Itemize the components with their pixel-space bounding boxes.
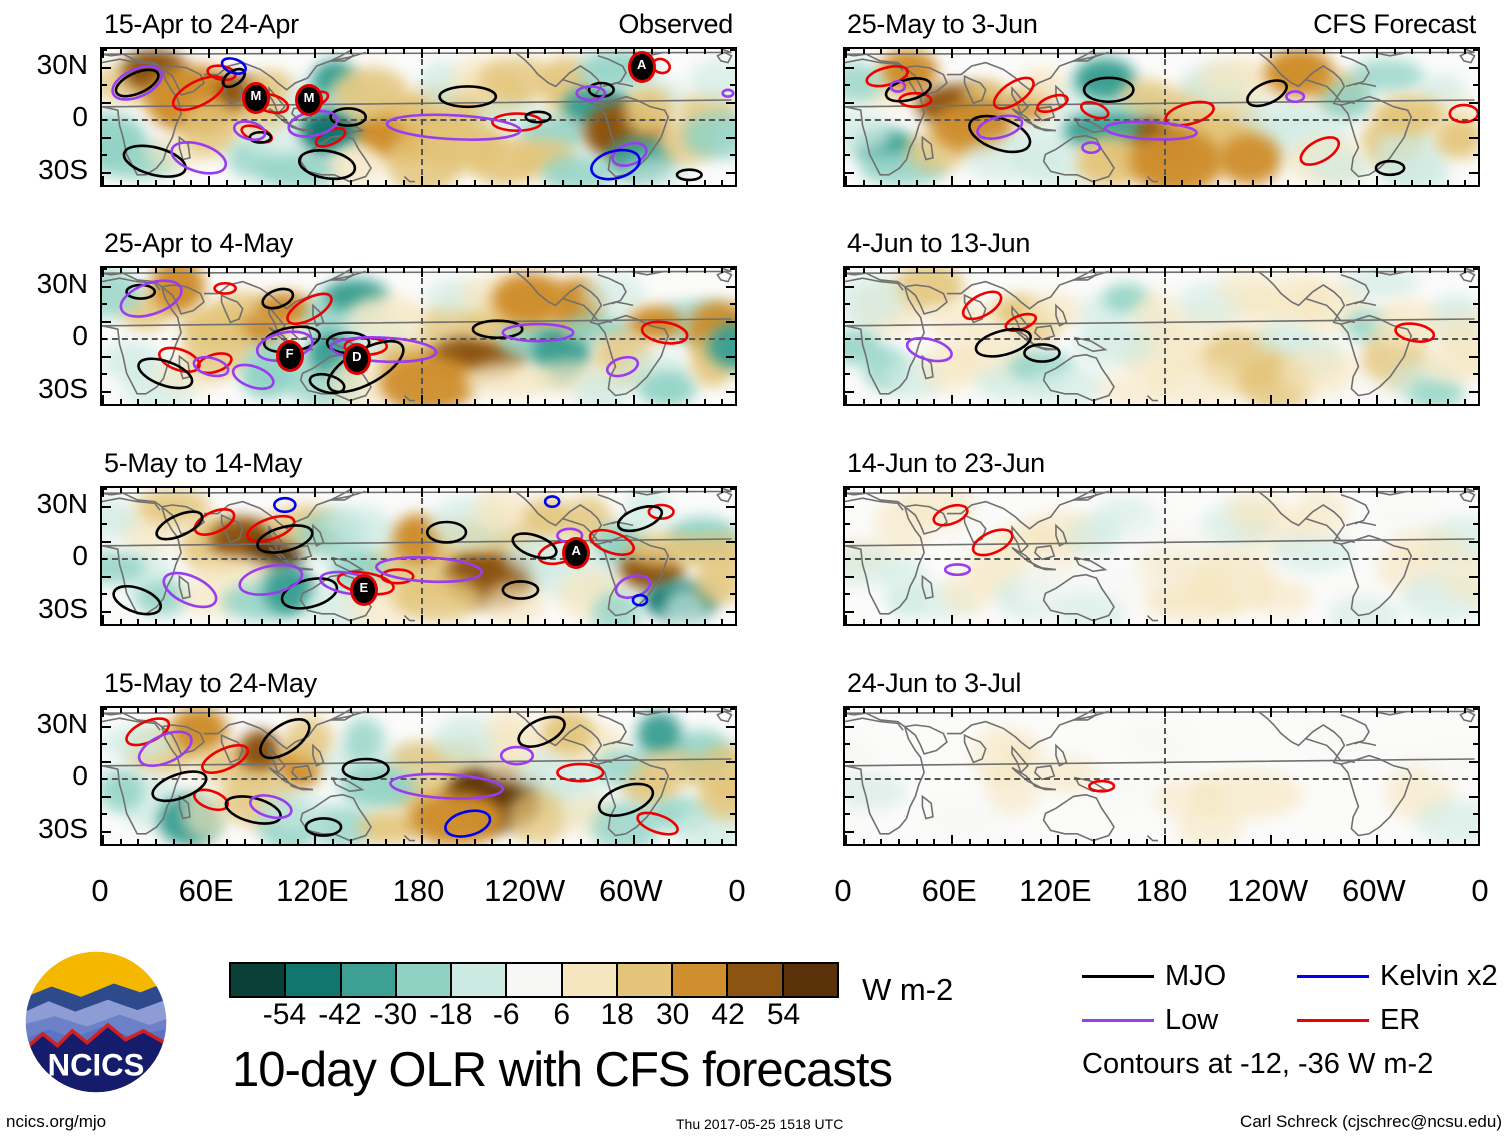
axis-tick [726,172,735,174]
axis-tick [686,619,688,624]
axis-tick [350,619,352,624]
axis-tick [845,395,847,404]
axis-tick [1004,619,1006,624]
axis-tick [102,615,104,624]
axis-tick [730,523,735,525]
axis-tick [456,268,458,273]
axis-tick [969,49,971,54]
colorbar-tick-label: 30 [656,1000,689,1030]
axis-tick [1128,268,1130,273]
axis-tick [421,395,423,404]
axis-tick [686,488,688,493]
axis-tick [730,488,735,490]
map-panel-fcst-4[interactable] [843,706,1480,846]
axis-tick [190,708,192,713]
colorbar-tick-label: 18 [600,1000,633,1030]
axis-tick [173,268,175,273]
axis-tick [969,268,971,273]
axis-tick [1057,488,1059,497]
axis-tick [527,268,529,277]
axis-tick [350,488,352,493]
axis-tick [597,399,599,404]
axis-tick [1394,399,1396,404]
axis-tick [1252,708,1254,713]
axis-tick [544,839,546,844]
wave-contour-overlay [845,49,1478,185]
colorbar-tick-label: -18 [429,1000,472,1030]
legend-item-kelvin-x2: Kelvin x2 [1297,962,1498,991]
axis-tick [668,268,670,273]
axis-tick [726,796,735,798]
axis-tick [244,268,246,273]
axis-tick [1287,708,1289,713]
axis-tick [969,399,971,404]
axis-tick [1358,268,1360,273]
legend-label: Kelvin x2 [1380,962,1498,991]
axis-tick [1323,399,1325,404]
axis-tick [350,399,352,404]
axis-tick [580,49,582,54]
axis-tick [1075,619,1077,624]
axis-tick [385,708,387,713]
axis-tick [261,268,263,273]
axis-tick [297,180,299,185]
axis-tick [987,708,989,713]
axis-tick [367,708,369,713]
legend-item-er: ER [1297,1006,1420,1035]
axis-tick [1376,268,1378,277]
axis-tick [1093,268,1095,273]
colorbar-tick-label: 42 [711,1000,744,1030]
axis-tick [403,49,405,54]
axis-tick [367,839,369,844]
contour-low [390,771,504,801]
axis-tick [730,708,735,710]
axis-tick [456,399,458,404]
axis-tick [1473,708,1478,710]
axis-tick [279,268,281,273]
ncics-logo[interactable]: NCICS [22,948,170,1096]
axis-tick [1473,154,1478,156]
axis-tick [1146,268,1148,273]
contour-er [244,511,297,547]
axis-tick [208,708,210,717]
colorbar-tick-labels: -54-42-30-18-6618304254 [229,1000,839,1034]
axis-tick [1429,399,1431,404]
axis-tick [845,119,850,121]
map-panel-obs-4[interactable] [100,706,737,846]
axis-tick [1234,268,1236,273]
wave-marker: M [242,82,270,114]
colorbar-tick-label: -42 [318,1000,361,1030]
axis-tick [1376,835,1378,844]
axis-tick [721,839,723,844]
contour-mjo [1244,75,1291,111]
axis-tick [1057,395,1059,404]
axis-tick [155,619,157,624]
axis-tick [509,399,511,404]
contour-mjo [1084,78,1133,102]
contour-low [168,136,230,179]
axis-tick [1473,268,1478,270]
axis-tick [1340,488,1342,493]
axis-tick [668,708,670,713]
axis-tick [102,373,107,375]
axis-tick [403,488,405,493]
axis-tick [580,268,582,273]
axis-tick [332,488,334,493]
axis-tick [1004,488,1006,493]
footer-link[interactable]: ncics.org/mjo [6,1113,106,1130]
axis-tick [845,488,850,490]
axis-tick [102,593,107,595]
axis-tick [491,268,493,273]
map-panel-obs-2[interactable]: FD [100,266,737,406]
axis-tick [668,488,670,493]
axis-tick [863,619,865,624]
axis-tick [279,399,281,404]
axis-tick [880,839,882,844]
axis-tick [615,488,617,493]
axis-tick [332,180,334,185]
axis-tick [651,619,653,624]
wave-contour-overlay [845,268,1478,404]
axis-tick [1376,708,1378,717]
contour-mjo [135,353,196,394]
axis-tick [1270,395,1272,404]
axis-tick [367,49,369,54]
axis-tick [1199,839,1201,844]
axis-tick [863,839,865,844]
axis-tick [1340,399,1342,404]
axis-tick [261,180,263,185]
axis-tick [863,268,865,273]
axis-tick [332,619,334,624]
axis-tick [597,180,599,185]
axis-tick [1305,488,1307,493]
axis-tick [1040,49,1042,54]
axis-tick [438,839,440,844]
axis-tick [137,488,139,493]
colorbar-units: W m-2 [862,972,953,1008]
axis-tick [597,839,599,844]
axis-tick [580,619,582,624]
axis-tick [1469,137,1478,139]
axis-tick [1110,399,1112,404]
axis-tick [730,268,735,270]
axis-tick [421,615,423,624]
wave-marker: F [276,340,304,372]
axis-tick [1305,839,1307,844]
axis-tick [1305,180,1307,185]
axis-tick [456,839,458,844]
axis-tick [155,180,157,185]
axis-tick [385,488,387,493]
axis-tick [969,839,971,844]
axis-tick [208,49,210,58]
axis-tick [1181,399,1183,404]
axis-tick [1252,619,1254,624]
axis-tick [1217,49,1219,54]
axis-tick [314,268,316,277]
contour-low [723,90,734,97]
axis-tick [102,611,111,613]
axis-tick [208,835,210,844]
axis-tick [845,615,847,624]
contour-er [1089,781,1114,791]
axis-tick [933,180,935,185]
axis-tick [1004,49,1006,54]
axis-tick [730,778,735,780]
axis-tick [880,708,882,713]
axis-tick [297,399,299,404]
axis-tick [651,488,653,493]
axis-tick [1411,49,1413,54]
axis-tick [509,708,511,713]
axis-tick [1022,708,1024,713]
axis-tick [1057,176,1059,185]
axis-tick [102,84,107,86]
axis-tick [1057,835,1059,844]
axis-tick [845,373,850,375]
map-panel-obs-3[interactable]: EA [100,486,737,626]
axis-tick [951,708,953,717]
axis-tick [668,180,670,185]
axis-tick [367,268,369,273]
axis-tick [668,399,670,404]
axis-tick [1394,268,1396,273]
contour-mjo [343,759,389,779]
axis-tick [863,708,865,713]
axis-tick [385,839,387,844]
wave-contour-overlay [845,488,1478,624]
axis-tick [1358,488,1360,493]
axis-tick [845,356,854,358]
axis-tick [1394,180,1396,185]
axis-tick [1287,49,1289,54]
axis-tick [1464,180,1466,185]
axis-tick [1128,839,1130,844]
y-axis-label: 30N [0,270,88,298]
axis-tick [845,523,850,525]
axis-tick [845,268,850,270]
axis-tick [1270,176,1272,185]
axis-tick [933,708,935,713]
colorbar-bin [726,964,781,996]
axis-tick [1469,391,1478,393]
axis-tick [1093,708,1095,713]
axis-tick [155,488,157,493]
axis-tick [1323,839,1325,844]
axis-tick [951,176,953,185]
axis-tick [1429,619,1431,624]
axis-tick [367,180,369,185]
axis-tick [314,176,316,185]
axis-tick [438,268,440,273]
contour-mjo [473,321,522,338]
axis-tick [173,839,175,844]
y-axis-label: 0 [0,762,88,790]
map-panel-obs-1[interactable]: MMA [100,47,737,187]
axis-tick [1146,839,1148,844]
contour-low [905,334,955,365]
axis-tick [880,488,882,493]
axis-tick [969,180,971,185]
axis-tick [1429,180,1431,185]
axis-tick [1376,615,1378,624]
axis-tick [491,488,493,493]
axis-tick [880,268,882,273]
axis-tick [987,49,989,54]
map-panel-fcst-2[interactable] [843,266,1480,406]
axis-tick [1040,708,1042,713]
axis-tick [385,268,387,273]
axis-tick [314,488,316,497]
contour-er [635,809,681,839]
axis-tick [421,708,423,717]
axis-tick [726,576,735,578]
axis-tick [1469,611,1478,613]
panel-title-obs-4: 15-May to 24-May [104,670,317,697]
axis-tick [1429,839,1431,844]
axis-tick [1447,839,1449,844]
axis-tick [1270,835,1272,844]
axis-tick [845,391,854,393]
axis-tick [726,356,735,358]
contour-mjo [615,501,665,535]
axis-tick [1469,286,1478,288]
axis-tick [102,137,111,139]
axis-tick [562,399,564,404]
axis-tick [1075,488,1077,493]
axis-tick [1128,708,1130,713]
axis-tick [933,399,935,404]
axis-tick [721,180,723,185]
axis-tick [580,399,582,404]
wave-marker: E [350,574,378,606]
axis-tick [987,268,989,273]
axis-tick [916,619,918,624]
axis-tick [933,488,935,493]
footer-timestamp: Thu 2017-05-25 1518 UTC [676,1116,843,1133]
axis-tick [456,180,458,185]
axis-tick [1234,180,1236,185]
axis-tick [1473,778,1478,780]
axis-tick [1181,268,1183,273]
contour-low [945,564,970,574]
axis-tick [651,180,653,185]
axis-tick [403,839,405,844]
axis-tick [1429,268,1431,273]
axis-tick [403,708,405,713]
axis-tick [509,839,511,844]
axis-tick [951,835,953,844]
axis-tick [1323,268,1325,273]
axis-tick [1473,593,1478,595]
contour-mjo [149,766,210,807]
axis-tick [686,399,688,404]
contour-low [230,360,277,393]
panel-corner-label-obs-1: Observed [618,11,733,38]
axis-tick [1394,619,1396,624]
axis-tick [562,49,564,54]
axis-tick [845,813,850,815]
axis-tick [102,488,107,490]
axis-tick [279,488,281,493]
legend-swatch [1082,975,1154,978]
axis-tick [845,303,850,305]
axis-tick [969,708,971,713]
contour-mjo [595,778,657,822]
axis-tick [544,708,546,713]
contour-mjo [677,170,702,180]
y-axis-label: 30S [0,156,88,184]
axis-tick [1464,49,1466,54]
axis-tick [1287,180,1289,185]
axis-tick [580,839,582,844]
axis-tick [491,619,493,624]
axis-tick [615,708,617,713]
axis-tick [1093,619,1095,624]
colorbar-bin [231,964,284,996]
axis-tick [438,399,440,404]
axis-tick [726,137,735,139]
axis-tick [845,541,854,543]
axis-tick [102,49,107,51]
axis-tick [730,84,735,86]
axis-tick [509,49,511,54]
axis-tick [102,286,111,288]
axis-tick [1110,268,1112,273]
axis-tick [279,839,281,844]
axis-tick [730,154,735,156]
axis-tick [1305,619,1307,624]
contour-er [969,524,1016,560]
axis-tick [226,180,228,185]
map-panel-fcst-1[interactable] [843,47,1480,187]
contour-mjo [254,712,316,766]
axis-tick [474,708,476,713]
axis-tick [314,49,316,58]
axis-tick [615,180,617,185]
axis-tick [1429,49,1431,54]
contour-mjo [503,581,538,598]
axis-tick [1004,268,1006,273]
axis-tick [1469,102,1478,104]
axis-tick [730,593,735,595]
colorbar-bin [284,964,339,996]
axis-tick [102,119,107,121]
axis-tick [704,839,706,844]
colorbar-bin [616,964,671,996]
axis-tick [562,708,564,713]
map-panel-fcst-3[interactable] [843,486,1480,626]
axis-tick [1270,49,1272,58]
y-axis-label: 30N [0,710,88,738]
wave-contour-overlay [845,708,1478,844]
axis-tick [385,399,387,404]
x-axis-label: 0 [728,875,745,906]
panel-title-fcst-4: 24-Jun to 3-Jul [847,670,1021,697]
axis-tick [1287,488,1289,493]
axis-tick [297,839,299,844]
y-axis-label: 0 [0,322,88,350]
contour-mjo [153,506,206,545]
axis-tick [1287,268,1289,273]
axis-tick [137,268,139,273]
axis-tick [509,268,511,273]
axis-tick [120,49,122,54]
